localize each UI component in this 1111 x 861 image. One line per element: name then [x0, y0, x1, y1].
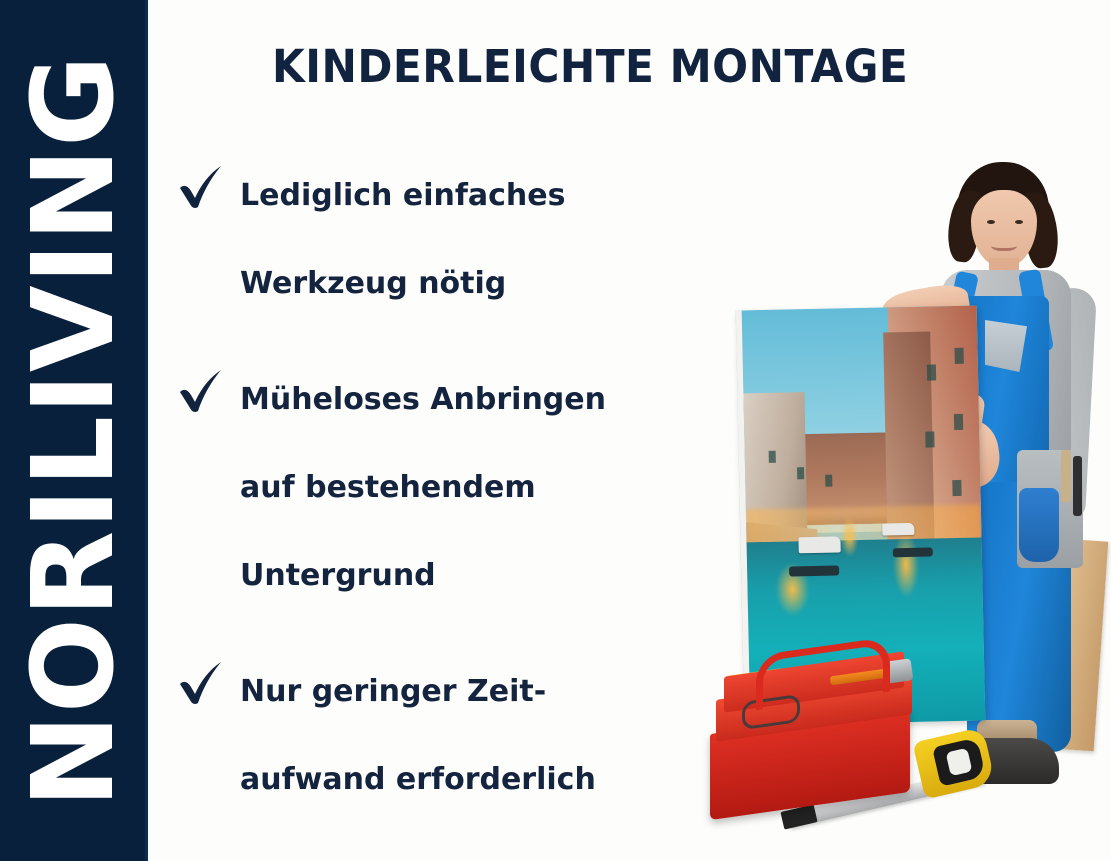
canvas-window	[952, 480, 961, 496]
overall-pocket	[985, 320, 1027, 372]
list-item-label: Nur geringer Zeit- aufwand erforderlich	[230, 648, 596, 824]
page-title: KINDERLEICHTE MONTAGE	[272, 42, 921, 92]
canvas-window	[797, 467, 804, 479]
canvas-boat	[789, 566, 839, 577]
worker-face	[971, 190, 1037, 268]
worker-eye-left	[987, 220, 995, 224]
canvas-boat	[892, 547, 932, 557]
canvas-window	[926, 431, 935, 447]
worker-eye-right	[1015, 220, 1023, 224]
canvas-window	[927, 364, 936, 380]
canvas-window	[954, 347, 963, 363]
canvas-boat	[798, 537, 840, 554]
check-icon	[176, 160, 230, 214]
canvas-boat	[882, 523, 914, 536]
list-item-label: Lediglich einfaches Werkzeug nötig	[230, 152, 565, 328]
list-item-label: Müheloses Anbringen auf bestehendem Unte…	[230, 356, 606, 620]
check-icon	[176, 656, 230, 710]
list-item: Lediglich einfaches Werkzeug nötig	[176, 152, 706, 328]
canvas-window	[953, 414, 962, 430]
toolbox	[700, 650, 1000, 860]
belt-tool-pliers	[1073, 456, 1082, 516]
check-icon	[176, 364, 230, 418]
belt-tool-screwdriver	[1061, 450, 1071, 502]
brand-wordmark: NORILIVING	[18, 0, 130, 861]
canvas-light-reflection	[840, 517, 859, 557]
feature-list: Lediglich einfaches Werkzeug nötig Mühel…	[176, 152, 706, 852]
work-glove	[1019, 488, 1059, 562]
worker-smile	[991, 238, 1017, 251]
list-item: Nur geringer Zeit- aufwand erforderlich	[176, 648, 706, 824]
canvas-window	[825, 475, 832, 487]
promo-banner: NORILIVING KINDERLEICHTE MONTAGE Ledigli…	[0, 0, 1111, 861]
product-photo	[690, 120, 1111, 861]
list-item: Müheloses Anbringen auf bestehendem Unte…	[176, 356, 706, 620]
brand-band: NORILIVING	[0, 0, 148, 861]
canvas-window	[768, 451, 775, 463]
